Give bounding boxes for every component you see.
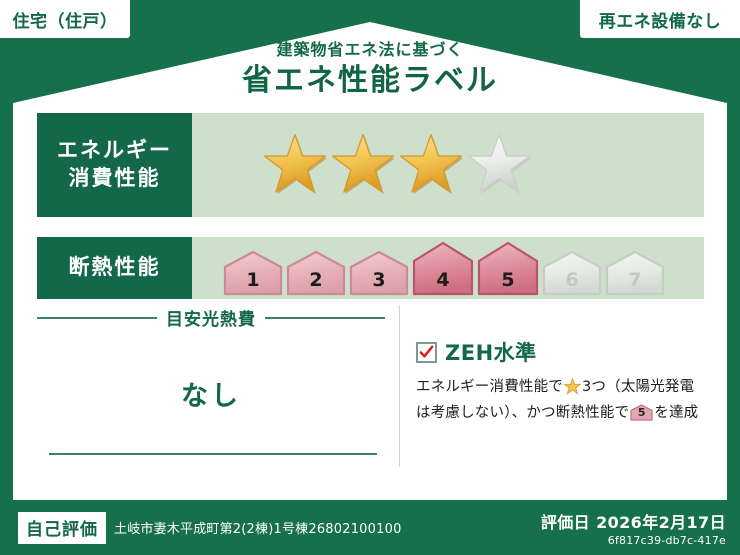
badge-self-evaluation: 自己評価 (18, 512, 106, 544)
inline-house-badge-icon: 5 (630, 404, 653, 428)
zeh-desc-part-1: エネルギー消費性能で (416, 379, 563, 395)
zeh-desc-part-2: は考慮しない）、かつ断熱性能で (416, 405, 629, 421)
evaluation-date-label: 評価日 (541, 513, 590, 532)
badge-building-type-label: 住宅（住戸） (13, 7, 118, 32)
zeh-title: ZEH水準 (445, 337, 537, 367)
house-5-filled: 5 (476, 241, 540, 297)
star-rating (262, 132, 532, 198)
utility-cost-value: なし (37, 374, 385, 413)
utility-cost-heading: 目安光熱費 (37, 305, 385, 330)
star-1-filled (262, 132, 328, 198)
insulation-performance-value: 1234567 (192, 237, 704, 299)
energy-performance-label: 住宅（住戸） 再エネ設備なし 建築物省エネ法に基づく 省エネ性能ラベル エネルギ… (0, 0, 740, 555)
house-2-filled: 2 (285, 250, 347, 297)
house-shape-icon (604, 250, 666, 297)
evaluation-date-value: 2026年2月17日 (596, 513, 726, 532)
utility-cost-underline (49, 453, 377, 455)
house-shape-icon (411, 241, 475, 297)
utility-cost-heading-label: 目安光熱費 (166, 305, 256, 330)
star-4-empty (466, 132, 532, 198)
checkbox-checked-icon (416, 342, 437, 363)
energy-performance-value (192, 113, 704, 217)
insulation-performance-row: 断熱性能 1234567 (37, 237, 704, 299)
evaluation-date: 評価日 2026年2月17日 (541, 509, 726, 533)
label-title-block: 建築物省エネ法に基づく 省エネ性能ラベル (0, 40, 740, 100)
house-shape-icon (541, 250, 603, 297)
star-3-filled (398, 132, 464, 198)
vertical-divider (399, 305, 400, 467)
insulation-performance-label-box: 断熱性能 (37, 237, 192, 299)
energy-label-line-2: 消費性能 (69, 165, 161, 193)
house-shape-icon (476, 241, 540, 297)
rule-line-right (265, 317, 385, 319)
rule-line-left (37, 317, 157, 319)
house-4-filled: 4 (411, 241, 475, 297)
utility-cost-panel: 目安光熱費 なし (37, 303, 385, 473)
house-7-empty: 7 (604, 250, 666, 297)
badge-renewable-energy: 再エネ設備なし (580, 0, 740, 38)
house-3-filled: 3 (348, 250, 410, 297)
star-2-filled (330, 132, 396, 198)
zeh-desc-part-3: を達成 (654, 405, 698, 421)
house-shape-icon (348, 250, 410, 297)
property-address: 土岐市妻木平成町第2(2棟)1号棟26802100100 (114, 518, 402, 537)
house-1-filled: 1 (222, 250, 284, 297)
label-title: 省エネ性能ラベル (0, 62, 740, 100)
zeh-desc-star-count: 3つ（太陽光発電 (582, 379, 694, 395)
badge-building-type: 住宅（住戸） (0, 0, 130, 38)
footer-right-block: 評価日 2026年2月17日 6f817c39-db7c-417e (541, 509, 726, 547)
zeh-panel: ZEH水準 エネルギー消費性能で 3つ（太陽光発電 は考慮しない）、かつ断熱性能… (416, 303, 704, 473)
house-6-empty: 6 (541, 250, 603, 297)
energy-performance-label-box: エネルギー 消費性能 (37, 113, 192, 217)
label-subtitle: 建築物省エネ法に基づく (0, 40, 740, 59)
zeh-description: エネルギー消費性能で 3つ（太陽光発電 は考慮しない）、かつ断熱性能で 5を達成 (416, 376, 704, 429)
inline-star-icon (564, 378, 581, 402)
label-footer: 自己評価 土岐市妻木平成町第2(2棟)1号棟26802100100 評価日 20… (0, 500, 740, 555)
house-shape-icon (285, 250, 347, 297)
energy-performance-row: エネルギー 消費性能 (37, 113, 704, 217)
lower-section: 目安光熱費 なし ZEH水準 エネルギー消費性能で 3つ（太 (37, 303, 704, 473)
energy-label-line-1: エネルギー (57, 137, 172, 165)
insulation-label: 断熱性能 (69, 254, 161, 282)
badge-renewable-energy-label: 再エネ設備なし (599, 7, 722, 32)
zeh-heading: ZEH水準 (416, 337, 704, 367)
house-shape-icon (222, 250, 284, 297)
inline-house-badge-number: 5 (630, 404, 653, 421)
house-rating-scale: 1234567 (222, 239, 666, 297)
evaluation-id: 6f817c39-db7c-417e (541, 534, 726, 547)
